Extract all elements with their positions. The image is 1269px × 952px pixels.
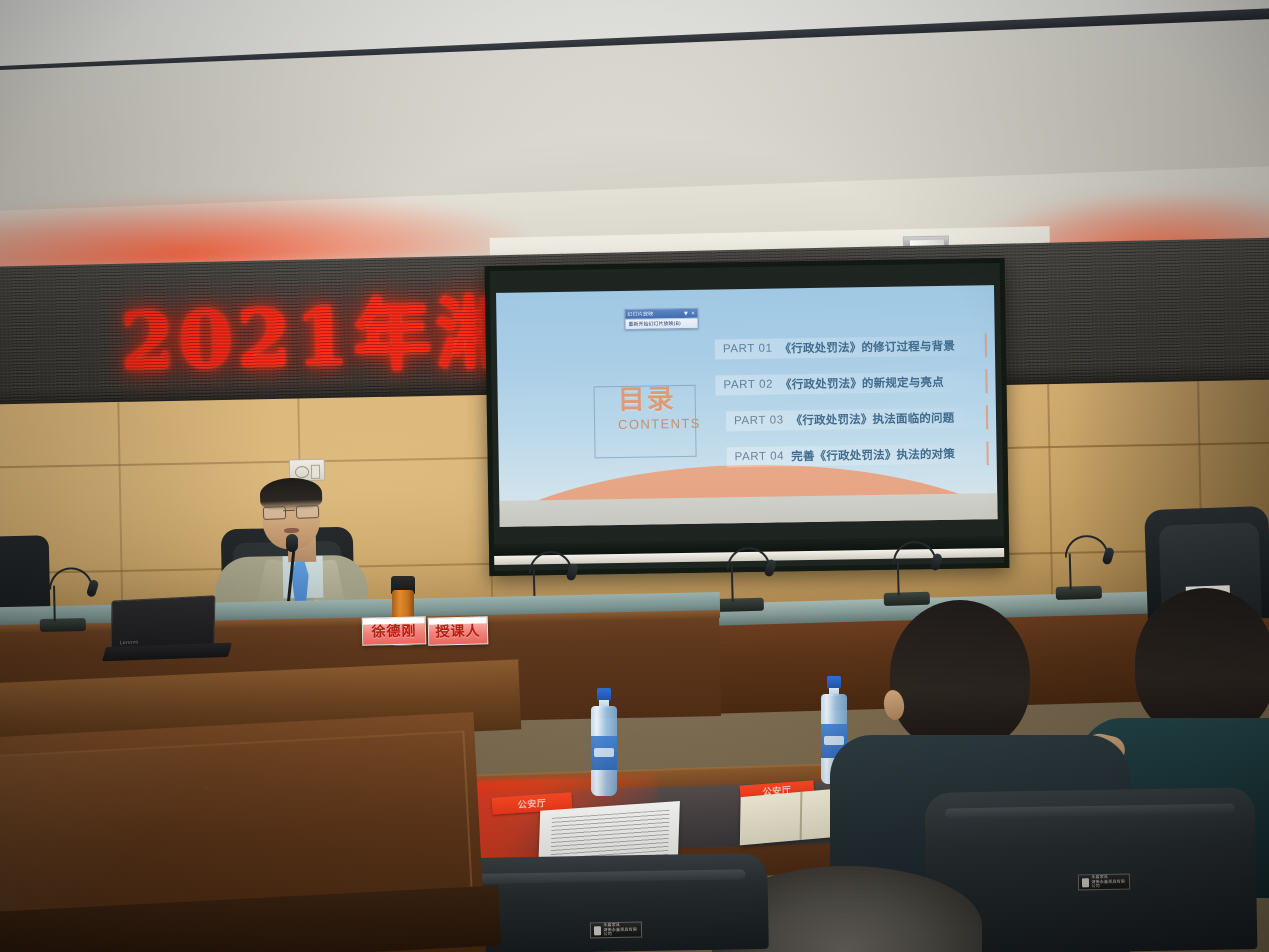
presentation-slide: 目录 CONTENTS PART 01 《行政处罚法》的修订过程与背景 PART…: [496, 285, 998, 527]
close-icon[interactable]: ✕: [691, 310, 695, 316]
nameplate-role-text: 授课人: [435, 620, 480, 641]
popup-controls[interactable]: ▼ ✕: [684, 310, 696, 316]
popup-title-text: 幻灯片放映: [627, 310, 653, 317]
photo-scene: 2021年湘 人员培训 目录 CONTENTS: [0, 0, 1269, 952]
table-card-text: 公安厅: [517, 796, 546, 811]
chair-brand-logo-icon: [1082, 878, 1090, 887]
part-number: PART 04: [735, 450, 785, 463]
slide-part-list: PART 01 《行政处罚法》的修订过程与背景 PART 02 《行政处罚法》的…: [715, 335, 989, 483]
chair-brand-sub: 湖南永鑫家具有限公司: [603, 926, 637, 936]
slide-part-row: PART 04 完善《行政处罚法》执法的对策: [726, 443, 988, 467]
eyeglasses-icon: [263, 505, 319, 519]
part-title: 《行政处罚法》执法面临的问题: [791, 410, 955, 429]
slide-part-row: PART 01 《行政处罚法》的修订过程与背景: [715, 335, 987, 359]
chevron-down-icon[interactable]: ▼: [684, 310, 688, 316]
attendee-head: [890, 600, 1030, 750]
chair-brand-tag: 永鑫家具 湖南永鑫家具有限公司: [1078, 874, 1130, 891]
speaker-microphone-head-icon: [286, 534, 298, 552]
part-title: 完善《行政处罚法》执法的对策: [791, 446, 955, 465]
attendee-head: [1135, 588, 1269, 738]
part-number: PART 02: [723, 379, 773, 392]
chair-brand-tag: 永鑫家具 湖南永鑫家具有限公司: [590, 922, 642, 939]
part-title: 《行政处罚法》的新规定与亮点: [780, 374, 944, 393]
nameplate-speaker-role: 授课人: [428, 616, 489, 645]
water-bottle: [590, 688, 618, 798]
part-title: 《行政处罚法》的修订过程与背景: [779, 338, 955, 357]
powerpoint-slideshow-popup[interactable]: 幻灯片放映 ▼ ✕ 重新开始幻灯片放映(B): [624, 308, 698, 330]
part-number: PART 01: [723, 343, 773, 356]
chair-brand-sub: 湖南永鑫家具有限公司: [1091, 878, 1125, 888]
projection-screen: 目录 CONTENTS PART 01 《行政处罚法》的修订过程与背景 PART…: [485, 258, 1010, 576]
nameplate-name-text: 徐德刚: [371, 620, 416, 641]
bottle-label: [591, 736, 617, 770]
slide-part-row: PART 03 《行政处罚法》执法面临的问题: [726, 407, 988, 431]
foreground-panel-diamond: [82, 781, 338, 914]
part-number: PART 03: [734, 414, 784, 427]
slide-part-row: PART 02 《行政处罚法》的新规定与亮点: [715, 371, 987, 395]
nameplate-speaker-name: 徐德刚: [362, 616, 427, 646]
chair-brand-logo-icon: [594, 926, 602, 935]
chair-headrest-seam: [945, 803, 1236, 818]
popup-menu-item[interactable]: 重新开始幻灯片放映(B): [625, 318, 697, 329]
